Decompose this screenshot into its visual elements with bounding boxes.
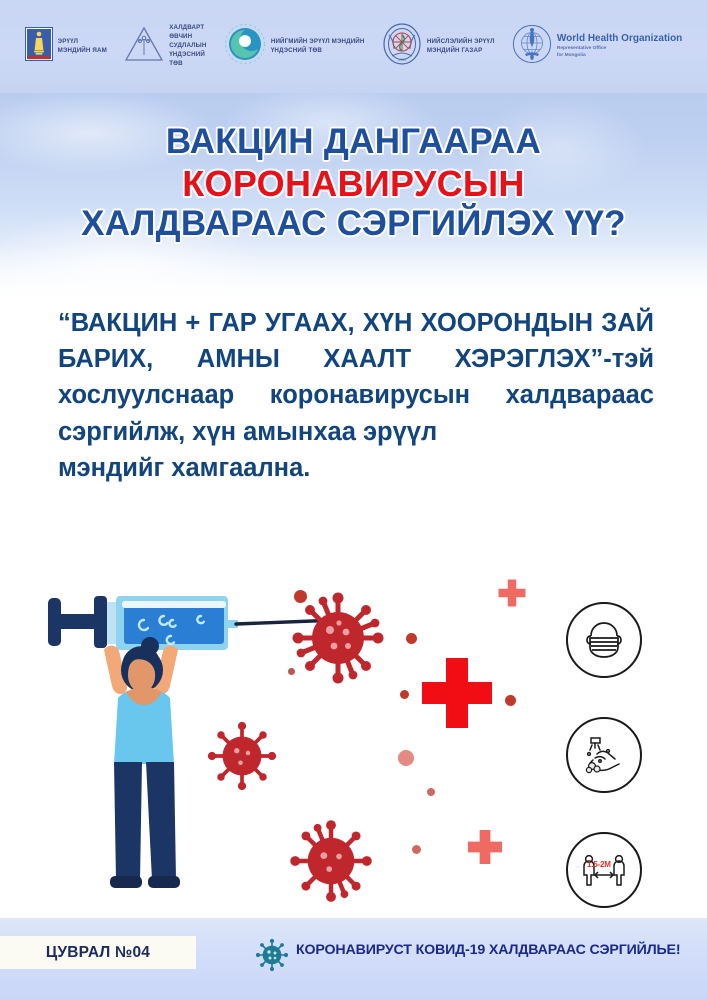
logo-ministry-of-health-label: ЭРҮҮЛ МЭНДИЙН ЯАМ [58, 38, 107, 56]
virus-dot [505, 695, 516, 706]
capital-health-emblem-icon: 1935 [382, 23, 422, 70]
red-medical-cross-small [497, 578, 527, 608]
social-distancing-icon: 1.5-2M [566, 832, 642, 908]
logo-ncph: НИЙГМИЙН ЭРҮҮЛ МЭНДИЙН ҮНДЭСНИЙ ТӨВ [224, 23, 365, 70]
headline-line-1: ВАКЦИН ДАНГААРАА [0, 122, 707, 163]
ministry-of-health-emblem-icon [25, 27, 53, 66]
red-medical-cross [418, 654, 496, 732]
footer-bar: ЦУВРАЛ №04 [0, 918, 707, 1000]
social-distancing-label: 1.5-2M [587, 860, 611, 869]
nccd-triangle-emblem-icon [124, 26, 164, 67]
logo-ministry-of-health: ЭРҮҮЛ МЭНДИЙН ЯАМ [25, 27, 107, 66]
logo-who-text-block: World Health Organization Representative… [557, 34, 682, 60]
virus-dot [427, 788, 435, 796]
series-badge: ЦУВРАЛ №04 [0, 936, 196, 969]
illustration-area: 1.5-2M [0, 560, 707, 920]
coronavirus-particle [288, 818, 374, 904]
ncph-circular-emblem-icon [224, 23, 266, 70]
series-badge-label: ЦУВРАЛ №04 [46, 944, 150, 962]
footer-slogan: КОРОНАВИРУСТ КОВИД-19 ХАЛДВАРААС СЭРГИЙЛ… [296, 942, 680, 958]
headline-line-2: КОРОНАВИРУСЫН [0, 163, 707, 205]
logo-who-label: World Health Organization [557, 34, 682, 45]
logo-ncph-label: НИЙГМИЙН ЭРҮҮЛ МЭНДИЙН ҮНДЭСНИЙ ТӨВ [271, 38, 365, 56]
virus-dot [412, 845, 421, 854]
who-emblem-icon [512, 24, 552, 69]
coronavirus-particle [290, 590, 386, 686]
red-medical-cross-small [466, 828, 504, 866]
logo-who-sublabel: Representative Office for Mongolia [557, 46, 682, 59]
hand-washing-icon [566, 717, 642, 793]
logo-nccd: ХАЛДВАРТ ӨВЧИН СУДЛАЛЫН ҮНДЭСНИЙ ТӨВ [124, 24, 206, 69]
logo-who: World Health Organization Representative… [512, 24, 682, 69]
virus-dot [406, 633, 417, 644]
headline-line-3: ХАЛДВАРААС СЭРГИЙЛЭХ ҮҮ? [0, 204, 707, 245]
body-text: “ВАКЦИН + ГАР УГААХ, ХҮН ХООРОНДЫН ЗАЙ Б… [58, 305, 654, 486]
coronavirus-particle [206, 720, 278, 792]
virus-dot [398, 750, 414, 766]
poster: ЭРҮҮЛ МЭНДИЙН ЯАМ ХАЛДВАРТ ӨВЧИН СУДЛАЛЫ… [0, 0, 707, 1000]
logo-capital-health-label: НИЙСЛЭЛИЙН ЭРҮҮЛ МЭНДИЙН ГАЗАР [427, 38, 495, 56]
body-paragraph-2: мэндийг хамгаална. [58, 450, 654, 486]
virus-dot [294, 590, 307, 603]
body-paragraph-1: “ВАКЦИН + ГАР УГААХ, ХҮН ХООРОНДЫН ЗАЙ Б… [58, 305, 654, 450]
virus-dot [400, 690, 409, 699]
logo-nccd-label: ХАЛДВАРТ ӨВЧИН СУДЛАЛЫН ҮНДЭСНИЙ ТӨВ [169, 24, 206, 69]
virus-dot [288, 668, 295, 675]
logo-capital-health-department: 1935 НИЙСЛЭЛИЙН ЭРҮҮЛ МЭНДИЙН ГАЗАР [382, 23, 495, 70]
face-mask-icon [566, 602, 642, 678]
page-title: ВАКЦИН ДАНГААРАА КОРОНАВИРУСЫН ХАЛДВАРАА… [0, 122, 707, 245]
svg-text:1935: 1935 [398, 58, 406, 62]
partner-logo-band: ЭРҮҮЛ МЭНДИЙН ЯАМ ХАЛДВАРТ ӨВЧИН СУДЛАЛЫ… [0, 0, 707, 93]
coronavirus-icon [255, 938, 289, 977]
